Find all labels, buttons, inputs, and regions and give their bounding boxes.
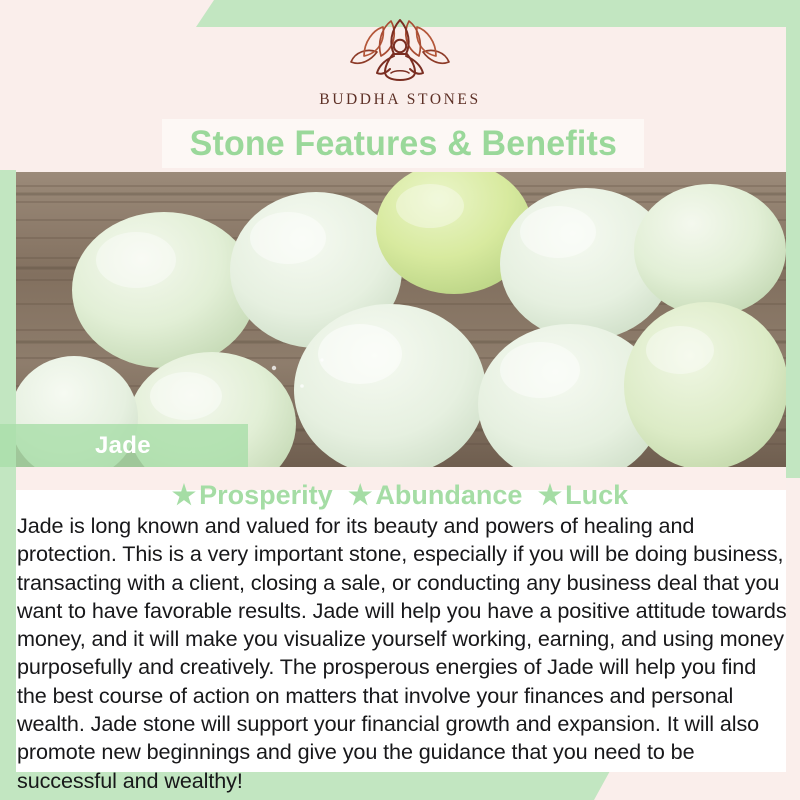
stone-name-text: Jade bbox=[95, 432, 151, 460]
benefits-row: ★Prosperity ★Abundance ★Luck bbox=[0, 480, 800, 511]
benefit-luck: ★Luck bbox=[538, 480, 628, 510]
star-icon: ★ bbox=[172, 480, 196, 510]
page-title: Stone Features & Benefits bbox=[189, 124, 616, 164]
stone-photo bbox=[16, 172, 786, 467]
brand-logo-block: BUDDHA STONES bbox=[0, 16, 800, 109]
star-icon: ★ bbox=[538, 480, 562, 510]
benefit-prosperity: ★Prosperity bbox=[172, 480, 333, 510]
benefit-abundance-label: Abundance bbox=[375, 480, 522, 510]
stone-name-label: Jade bbox=[0, 424, 248, 467]
benefit-prosperity-label: Prosperity bbox=[199, 480, 333, 510]
stone-description: Jade is long known and valued for its be… bbox=[17, 512, 787, 795]
benefit-luck-label: Luck bbox=[565, 480, 628, 510]
stone-info-poster: BUDDHA STONES bbox=[0, 0, 800, 800]
lotus-meditation-logo-icon bbox=[341, 16, 459, 86]
stone-photo-illustration bbox=[16, 172, 786, 467]
benefit-abundance: ★Abundance bbox=[348, 480, 522, 510]
star-icon: ★ bbox=[348, 480, 372, 510]
brand-name: BUDDHA STONES bbox=[0, 91, 800, 109]
title-card: Stone Features & Benefits bbox=[162, 119, 644, 168]
